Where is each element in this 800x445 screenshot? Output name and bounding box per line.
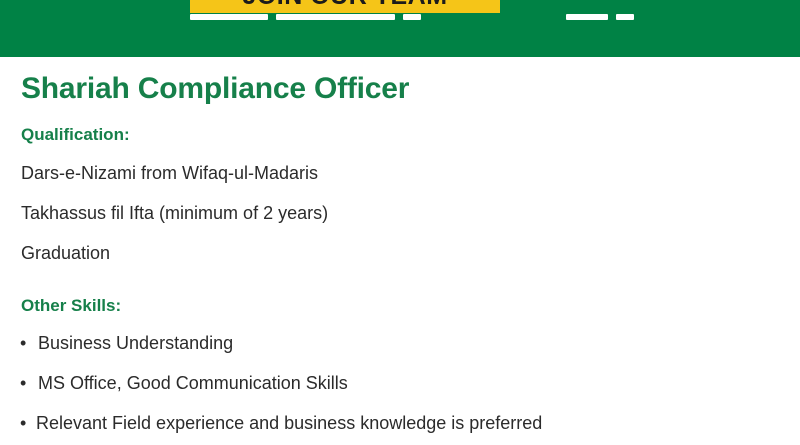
- decorative-dash-4: [566, 14, 608, 20]
- decorative-dash-3: [403, 14, 421, 20]
- bullet-icon: •: [20, 333, 36, 354]
- decorative-dash-1: [190, 14, 268, 20]
- skill-list-item-label: Relevant Field experience and business k…: [36, 413, 542, 434]
- decorative-dash-5: [616, 14, 634, 20]
- top-banner: JOIN OUR TEAM YOUR CV: [0, 0, 800, 57]
- decorative-dash-2: [276, 14, 395, 20]
- your-cv-label: YOUR CV: [524, 0, 610, 2]
- join-our-team-label: JOIN OUR TEAM: [242, 0, 447, 11]
- qualification-heading: Qualification:: [21, 125, 130, 145]
- skill-list-item: •Relevant Field experience and business …: [20, 413, 542, 434]
- skill-list-item-label: Business Understanding: [36, 333, 233, 354]
- job-title: Shariah Compliance Officer: [21, 72, 409, 106]
- bullet-icon: •: [20, 373, 36, 394]
- qualification-line: Takhassus fil Ifta (minimum of 2 years): [21, 203, 328, 224]
- skill-list-item: •MS Office, Good Communication Skills: [20, 373, 348, 394]
- bullet-icon: •: [20, 413, 36, 434]
- qualification-line: Graduation: [21, 243, 110, 264]
- skill-list-item-label: MS Office, Good Communication Skills: [36, 373, 348, 394]
- banner-inner-graphic: JOIN OUR TEAM YOUR CV: [0, 0, 800, 57]
- job-posting-content: Shariah Compliance Officer Qualification…: [0, 57, 800, 445]
- other-skills-heading: Other Skills:: [21, 296, 121, 316]
- skill-list-item: •Business Understanding: [20, 333, 233, 354]
- qualification-line: Dars-e-Nizami from Wifaq-ul-Madaris: [21, 163, 318, 184]
- join-our-team-badge: JOIN OUR TEAM: [190, 0, 500, 13]
